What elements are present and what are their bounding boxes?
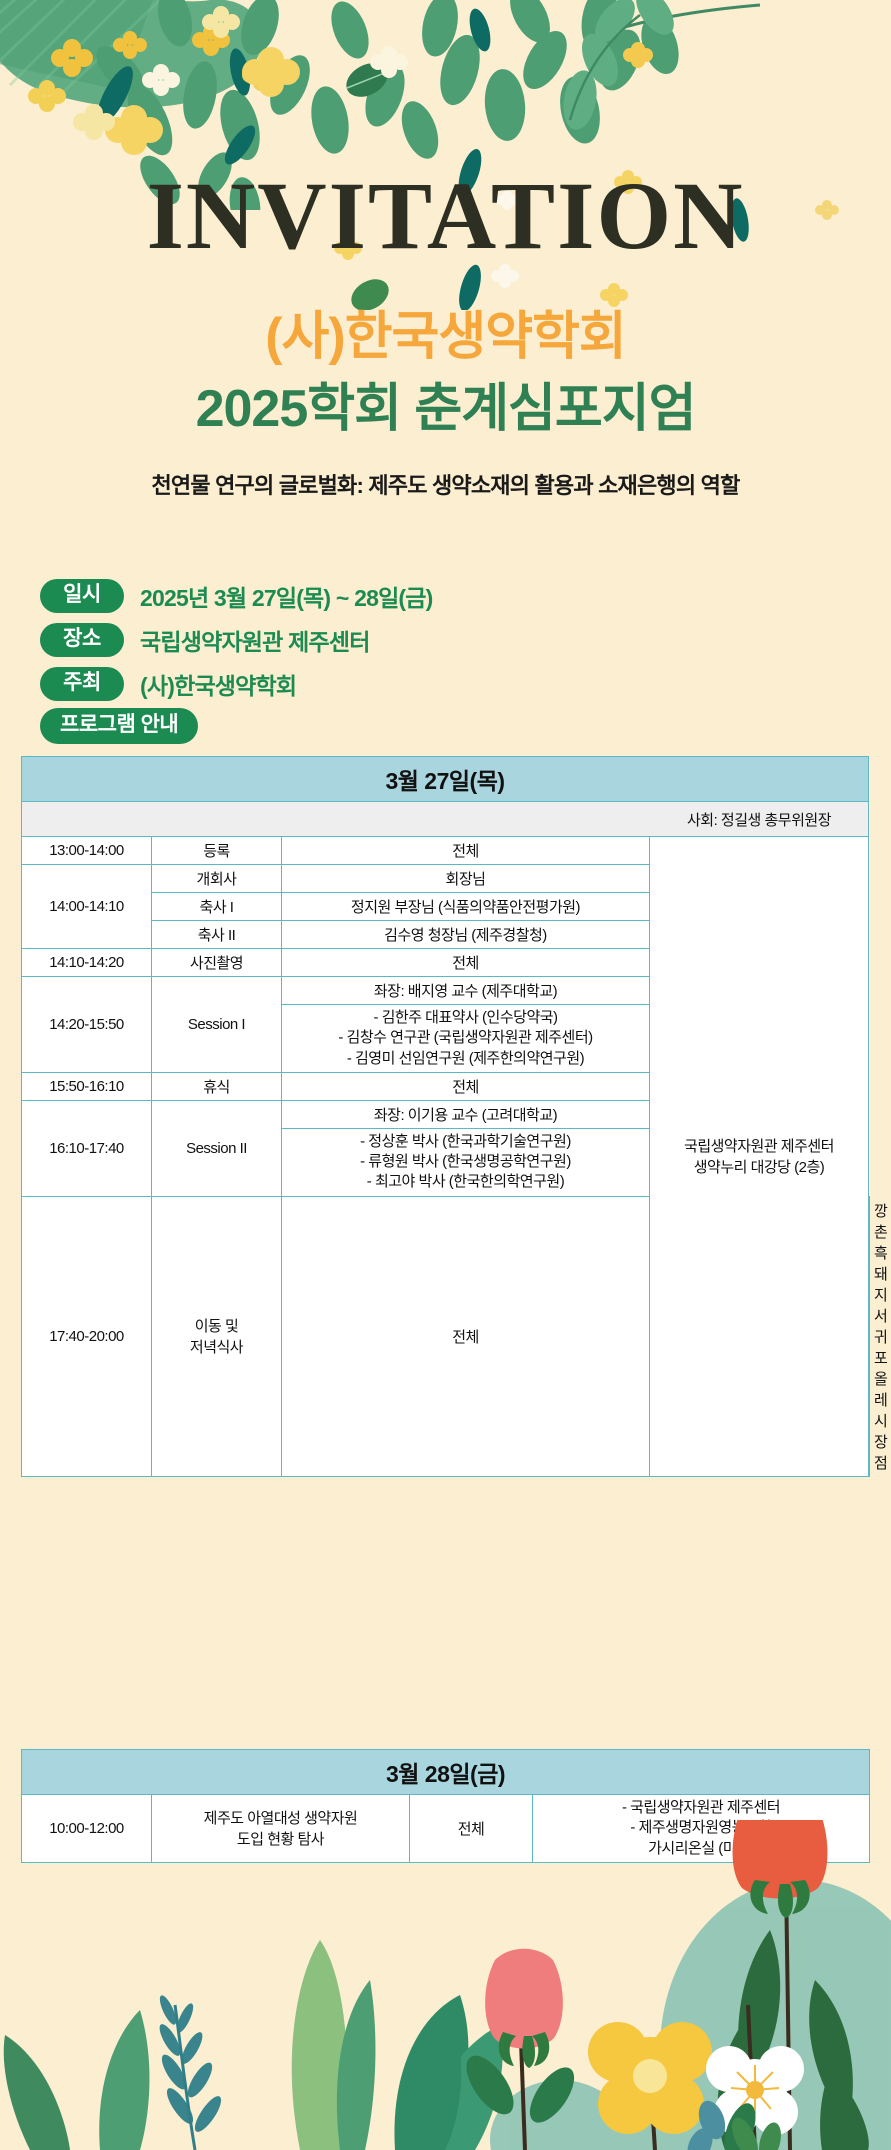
session-2-chair: 좌장: 이기용 교수 (고려대학교) [282, 1100, 650, 1128]
organization-title: (사)한국생약학회 [0, 308, 891, 368]
speaker-item: - 김한주 대표약사 (인수당약국) [287, 1008, 644, 1028]
info-row-venue: 장소 국립생약자원관 제주센터 [40, 620, 740, 660]
item-cell: 휴식 [152, 1072, 282, 1100]
item-line-2: 저녁식사 [157, 1336, 276, 1357]
who-cell: 전체 [282, 1072, 650, 1100]
location-line-2: 생약누리 대강당 (2층) [655, 1156, 863, 1177]
day1-header-row: 3월 27일(목) [22, 757, 870, 802]
speaker-item: - 김영미 선임연구원 (제주한의약연구원) [287, 1049, 644, 1069]
program-tab-label: 프로그램 안내 [40, 708, 198, 744]
item-line-1: 이동 및 [157, 1315, 276, 1336]
session-1-chair: 좌장: 배지영 교수 (제주대학교) [282, 977, 650, 1005]
day1-schedule-table: 3월 27일(목) 사회: 정길생 총무위원장 13:00-14:00 등록 전… [21, 756, 870, 1477]
table-row: 10:00-12:00 제주도 아열대성 생약자원 도입 현황 탐사 전체 - … [22, 1795, 870, 1863]
speaker-item: - 최고야 박사 (한국한의학연구원) [287, 1172, 644, 1192]
info-venue-value: 국립생약자원관 제주센터 [140, 623, 370, 657]
badge-host: 주최 [40, 667, 124, 701]
location-cell: - 국립생약자원관 제주센터 - 제주생명자원영농조합 가시리온실 (미정) [533, 1795, 870, 1863]
item-cell-dinner: 이동 및 저녁식사 [152, 1196, 282, 1476]
item-cell: 등록 [152, 837, 282, 865]
time-cell: 15:50-16:10 [22, 1072, 152, 1100]
time-cell: 14:10-14:20 [22, 949, 152, 977]
item-cell-session-1: Session I [152, 977, 282, 1073]
info-row-host: 주최 (사)한국생약학회 [40, 664, 740, 704]
table-row: 13:00-14:00 등록 전체 국립생약자원관 제주센터 생약누리 대강당 … [22, 837, 870, 865]
item-cell-session-2: Session II [152, 1100, 282, 1196]
who-cell: 전체 [282, 949, 650, 977]
day2-header: 3월 28일(금) [22, 1750, 870, 1795]
time-cell: 10:00-12:00 [22, 1795, 152, 1863]
time-cell: 16:10-17:40 [22, 1100, 152, 1196]
item-cell: 개회사 [152, 865, 282, 893]
bottom-floral-decoration [0, 1820, 891, 2150]
item-cell: 사진촬영 [152, 949, 282, 977]
program-section-tab: 프로그램 안내 [40, 708, 198, 744]
who-cell: 정지원 부장님 (식품의약품안전평가원) [282, 893, 650, 921]
day2-schedule-table: 3월 28일(금) 10:00-12:00 제주도 아열대성 생약자원 도입 현… [21, 1749, 870, 1863]
item-line-1: 제주도 아열대성 생약자원 [157, 1807, 404, 1828]
location-line-3: 가시리온실 (미정) [538, 1839, 864, 1859]
who-cell: 전체 [282, 837, 650, 865]
who-cell: 김수영 청장님 (제주경찰청) [282, 921, 650, 949]
location-line-2: - 제주생명자원영농조합 [538, 1818, 864, 1838]
badge-date: 일시 [40, 579, 124, 613]
session-2-speakers: - 정상훈 박사 (한국과학기술연구원) - 류형원 박사 (한국생명공학연구원… [282, 1128, 650, 1196]
location-line-1: 국립생약자원관 제주센터 [655, 1135, 863, 1156]
day1-header: 3월 27일(목) [22, 757, 869, 802]
item-cell: 제주도 아열대성 생약자원 도입 현황 탐사 [152, 1795, 410, 1863]
who-cell: 전체 [282, 1196, 650, 1476]
day1-chair-row: 사회: 정길생 총무위원장 [22, 802, 870, 837]
item-line-2: 도입 현황 탐사 [157, 1828, 404, 1849]
session-1-speakers: - 김한주 대표약사 (인수당약국) - 김창수 연구관 (국립생약자원관 제주… [282, 1005, 650, 1073]
time-cell: 17:40-20:00 [22, 1196, 152, 1476]
info-date-value: 2025년 3월 27일(목) ~ 28일(금) [140, 579, 433, 613]
who-cell: 전체 [410, 1795, 533, 1863]
info-host-value: (사)한국생약학회 [140, 667, 296, 701]
item-cell: 축사 I [152, 893, 282, 921]
badge-venue: 장소 [40, 623, 124, 657]
event-title: 2025학회 춘계심포지엄 [0, 380, 891, 440]
event-subtitle: 천연물 연구의 글로벌화: 제주도 생약소재의 활용과 소재은행의 역할 [0, 468, 891, 500]
time-cell: 14:00-14:10 [22, 865, 152, 949]
item-cell: 축사 II [152, 921, 282, 949]
time-cell: 13:00-14:00 [22, 837, 152, 865]
time-cell: 14:20-15:50 [22, 977, 152, 1073]
event-info-block: 일시 2025년 3월 27일(목) ~ 28일(금) 장소 국립생약자원관 제… [40, 576, 740, 708]
speaker-item: - 류형원 박사 (한국생명공학연구원) [287, 1152, 644, 1172]
speaker-item: - 정상훈 박사 (한국과학기술연구원) [287, 1132, 644, 1152]
page-title: INVITATION [0, 168, 891, 264]
speaker-item: - 김창수 연구관 (국립생약자원관 제주센터) [287, 1028, 644, 1048]
chair-spacer [22, 802, 650, 837]
day1-chair: 사회: 정길생 총무위원장 [650, 802, 869, 837]
info-row-date: 일시 2025년 3월 27일(목) ~ 28일(금) [40, 576, 740, 616]
location-cell-dinner: 깡촌흑돼지 서귀포 올레시장점 [869, 1196, 870, 1476]
location-cell-main: 국립생약자원관 제주센터 생약누리 대강당 (2층) [650, 837, 869, 1477]
location-line-1: - 국립생약자원관 제주센터 [538, 1798, 864, 1818]
invitation-poster: INVITATION (사)한국생약학회 2025학회 춘계심포지엄 천연물 연… [0, 0, 891, 2150]
who-cell: 회장님 [282, 865, 650, 893]
day2-header-row: 3월 28일(금) [22, 1750, 870, 1795]
